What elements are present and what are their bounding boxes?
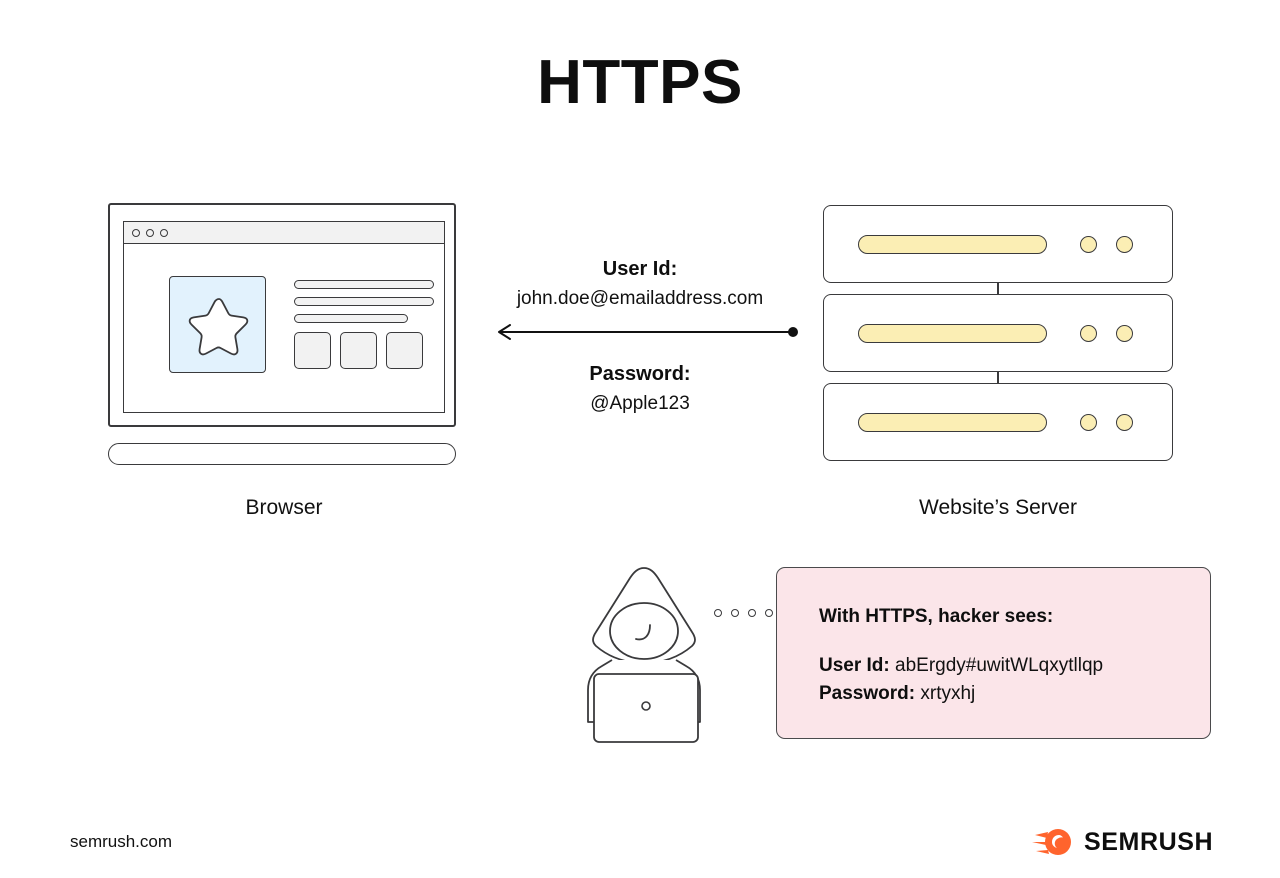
semrush-logo: SEMRUSH [1032,826,1213,858]
browser-titlebar [124,222,444,244]
page-title: HTTPS [0,52,1280,114]
footer-url: semrush.com [70,832,172,852]
rack-led-icon [1080,325,1097,342]
signal-dot-icon [731,609,739,617]
hero-image-tile [169,276,266,373]
callout-userid-value: abErgdy#uwitWLqxytllqp [895,655,1103,676]
thumbnail-tile [294,332,331,369]
flow-password-label: Password: [470,363,810,386]
rack-led-icon [1080,236,1097,253]
hacker-illustration [566,562,726,747]
diagram-canvas: HTTPS [0,0,1280,878]
text-line [294,280,434,289]
callout-title: With HTTPS, hacker sees: [819,606,1210,628]
laptop-base [108,443,456,465]
callout-userid-row: User Id: abErgdy#uwitWLqxytllqp [819,652,1210,680]
rack-led-icon [1116,236,1133,253]
hooded-hacker-icon [566,562,726,747]
callout-password-row: Password: xrtyxhj [819,680,1210,708]
server-rack-unit [823,205,1173,283]
star-icon [186,295,252,357]
callout-userid-label: User Id: [819,655,890,676]
rack-connector [997,283,999,294]
signal-dots [714,609,773,617]
semrush-comet-icon [1032,826,1074,858]
signal-dot-icon [714,609,722,617]
rack-led-icon [1080,414,1097,431]
server-rack-unit [823,383,1173,461]
thumbnail-tile [386,332,423,369]
thumbnail-tile [340,332,377,369]
rack-led-icon [1116,414,1133,431]
window-dot-icon [146,229,154,237]
window-dot-icon [160,229,168,237]
server-illustration [823,205,1173,465]
content-text-lines [294,280,434,331]
server-rack-unit [823,294,1173,372]
signal-dot-icon [748,609,756,617]
rack-bar [858,413,1047,432]
content-thumbnail-row [294,332,423,369]
flow-userid-value: john.doe@emailaddress.com [470,288,810,310]
callout-password-label: Password: [819,683,915,704]
flow-password-value: @Apple123 [470,393,810,415]
browser-illustration [108,203,460,468]
server-label: Website’s Server [714,496,1280,520]
flow-arrow-icon [480,322,800,342]
window-dot-icon [132,229,140,237]
semrush-wordmark: SEMRUSH [1084,828,1213,857]
text-line [294,314,408,323]
signal-dot-icon [765,609,773,617]
rack-bar [858,235,1047,254]
laptop-screen [108,203,456,427]
callout-password-value: xrtyxhj [920,683,975,704]
rack-bar [858,324,1047,343]
browser-label: Browser [0,496,568,520]
rack-connector [997,372,999,383]
rack-led-icon [1116,325,1133,342]
flow-userid-label: User Id: [470,258,810,281]
browser-window [123,221,445,413]
text-line [294,297,434,306]
data-flow-group: User Id: john.doe@emailaddress.com Passw… [470,250,810,430]
hacker-sees-callout: With HTTPS, hacker sees: User Id: abErgd… [776,567,1211,739]
